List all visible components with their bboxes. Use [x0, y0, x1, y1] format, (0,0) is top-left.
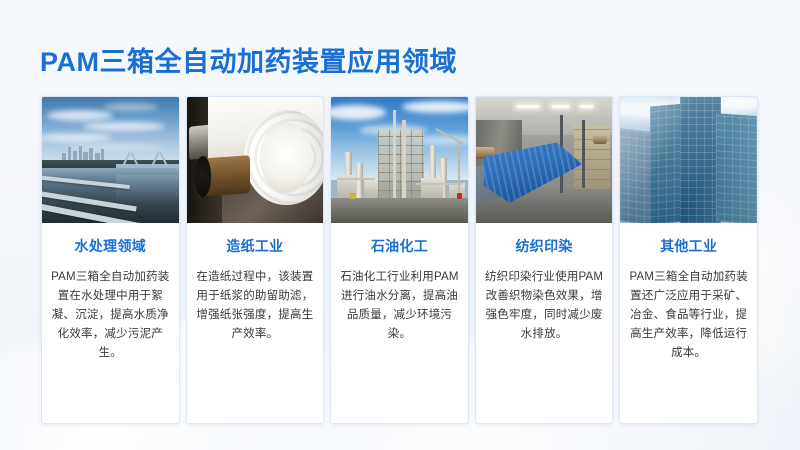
card-title: 石油化工: [371, 237, 428, 255]
glass-office-buildings-photo: [620, 97, 757, 223]
card-body: 纺织印染 纺织印染行业使用PAM改善织物染色效果，增强色牢度，同时减少废水排放。: [476, 223, 613, 423]
page-title: PAM三箱全自动加药装置应用领域: [40, 45, 457, 79]
card-description: 石油化工行业利用PAM进行油水分离，提高油品质量，减少环境污染。: [340, 268, 459, 344]
application-field-card-list: 水处理领域 PAM三箱全自动加药装置在水处理中用于絮凝、沉淀，提高水质净化效率，…: [41, 96, 758, 424]
card-description: PAM三箱全自动加药装置还广泛应用于采矿、冶金、食品等行业，提高生产效率，降低运…: [629, 268, 748, 363]
card-title: 纺织印染: [515, 237, 572, 255]
card-textile-dyeing[interactable]: 纺织印染 纺织印染行业使用PAM改善织物染色效果，增强色牢度，同时减少废水排放。: [475, 96, 614, 424]
card-body: 水处理领域 PAM三箱全自动加药装置在水处理中用于絮凝、沉淀，提高水质净化效率，…: [42, 223, 179, 423]
card-description: 在造纸过程中，该装置用于纸浆的助留助滤，增强纸张强度，提高生产效率。: [196, 268, 315, 344]
card-description: PAM三箱全自动加药装置在水处理中用于絮凝、沉淀，提高水质净化效率，减少污泥产生…: [51, 268, 170, 363]
card-title: 造纸工业: [226, 237, 283, 255]
water-treatment-plant-photo: [42, 97, 179, 223]
card-title: 其他工业: [660, 237, 717, 255]
card-title: 水处理领域: [75, 237, 147, 255]
card-paper-industry[interactable]: 造纸工业 在造纸过程中，该装置用于纸浆的助留助滤，增强纸张强度，提高生产效率。: [186, 96, 325, 424]
paper-mill-roll-photo: [187, 97, 324, 223]
card-body: 其他工业 PAM三箱全自动加药装置还广泛应用于采矿、冶金、食品等行业，提高生产效…: [620, 223, 757, 423]
textile-dyeing-machine-photo: [476, 97, 613, 223]
card-water-treatment[interactable]: 水处理领域 PAM三箱全自动加药装置在水处理中用于絮凝、沉淀，提高水质净化效率，…: [41, 96, 180, 424]
slide-canvas: PAM三箱全自动加药装置应用领域: [0, 0, 800, 450]
card-body: 石油化工 石油化工行业利用PAM进行油水分离，提高油品质量，减少环境污染。: [331, 223, 468, 423]
card-petrochemical[interactable]: 石油化工 石油化工行业利用PAM进行油水分离，提高油品质量，减少环境污染。: [330, 96, 469, 424]
card-body: 造纸工业 在造纸过程中，该装置用于纸浆的助留助滤，增强纸张强度，提高生产效率。: [187, 223, 324, 423]
card-description: 纺织印染行业使用PAM改善织物染色效果，增强色牢度，同时减少废水排放。: [485, 268, 604, 344]
card-other-industry[interactable]: 其他工业 PAM三箱全自动加药装置还广泛应用于采矿、冶金、食品等行业，提高生产效…: [619, 96, 758, 424]
petrochemical-plant-photo: [331, 97, 468, 223]
